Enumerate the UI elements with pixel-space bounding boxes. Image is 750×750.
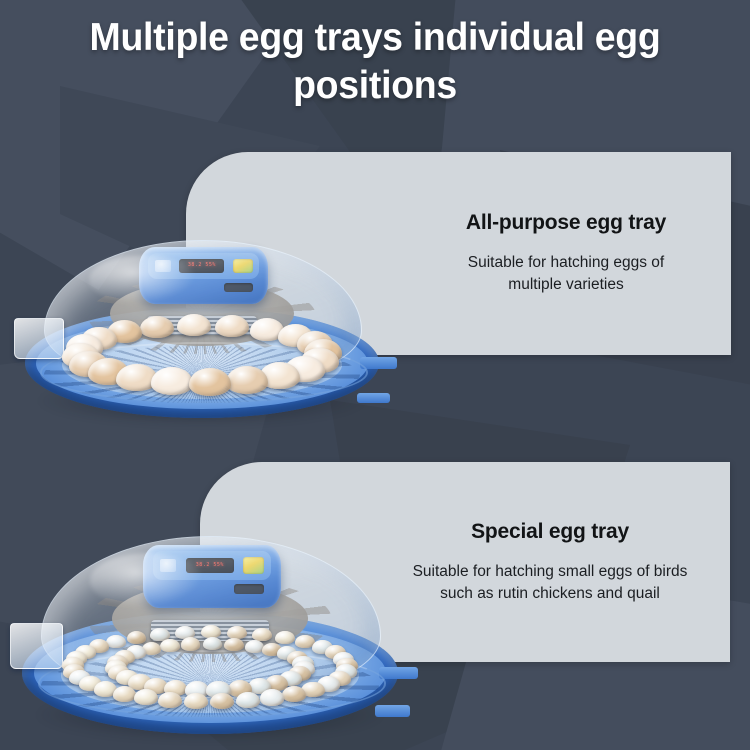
card-body-line-1: Suitable for hatching small eggs of bird… — [413, 561, 688, 583]
water-fill-cap[interactable] — [10, 623, 63, 669]
egg — [227, 626, 246, 639]
egg — [226, 366, 268, 393]
egg — [282, 686, 306, 702]
egg — [106, 635, 126, 648]
card-text-block: Special egg tray Suitable for hatching s… — [370, 462, 730, 664]
egg — [127, 631, 147, 644]
egg — [151, 367, 193, 395]
egg — [184, 693, 208, 709]
egg — [134, 689, 158, 705]
dome-glare — [89, 255, 197, 304]
egg — [177, 314, 211, 336]
egg — [160, 639, 180, 652]
egg — [189, 368, 231, 396]
egg — [215, 315, 249, 337]
egg — [158, 692, 182, 708]
card-body-line-2: multiple varieties — [508, 274, 623, 296]
water-fill-cap[interactable] — [14, 318, 64, 360]
egg — [210, 693, 234, 709]
card-heading: All-purpose egg tray — [466, 211, 666, 235]
egg — [245, 640, 265, 653]
egg — [236, 692, 260, 708]
egg — [113, 686, 137, 702]
egg — [140, 316, 174, 338]
card-body-line-1: Suitable for hatching eggs of — [468, 252, 664, 274]
egg — [203, 637, 222, 650]
product-feature-banner: Multiple egg trays individual egg positi… — [0, 0, 750, 750]
egg — [260, 689, 284, 705]
egg — [181, 637, 200, 650]
page-title: Multiple egg trays individual egg positi… — [15, 14, 735, 109]
card-text-block: All-purpose egg tray Suitable for hatchi… — [401, 152, 731, 361]
card-body-line-2: such as rutin chickens and quail — [440, 583, 660, 605]
product-image-all-purpose-incubator: 38.2 55% — [18, 232, 386, 422]
dome-glare — [90, 553, 205, 607]
product-image-special-incubator: 38.2 55% — [14, 528, 406, 738]
card-heading: Special egg tray — [471, 520, 629, 544]
egg — [224, 638, 243, 651]
egg — [275, 631, 295, 644]
